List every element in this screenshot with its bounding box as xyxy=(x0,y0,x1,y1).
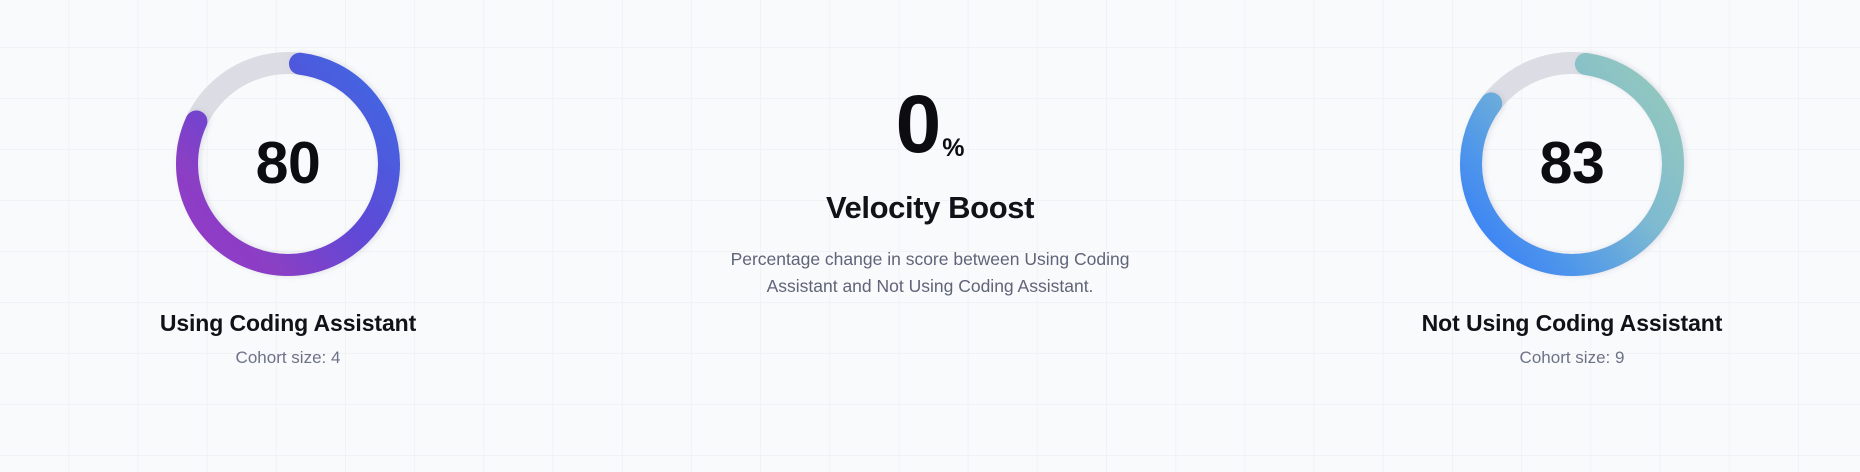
left-gauge-cohort-size: Cohort size: 4 xyxy=(160,348,416,368)
summary-value-row: 0 % xyxy=(896,86,965,164)
left-gauge-value: 80 xyxy=(172,48,404,280)
summary-heading: Velocity Boost xyxy=(826,190,1034,226)
right-gauge: 83 xyxy=(1456,48,1688,280)
right-gauge-cohort-size: Cohort size: 9 xyxy=(1422,348,1723,368)
velocity-boost-summary: 0 % Velocity Boost Percentage change in … xyxy=(610,0,1250,300)
summary-description: Percentage change in score between Using… xyxy=(695,246,1165,300)
velocity-boost-comparison-panel: 80 Using Coding Assistant Cohort size: 4… xyxy=(0,0,1860,472)
gauge-column-using-coding-assistant: 80 Using Coding Assistant Cohort size: 4 xyxy=(8,0,568,368)
right-gauge-caption: Not Using Coding Assistant Cohort size: … xyxy=(1422,310,1723,368)
left-gauge-caption: Using Coding Assistant Cohort size: 4 xyxy=(160,310,416,368)
summary-unit: % xyxy=(942,136,964,161)
right-gauge-title: Not Using Coding Assistant xyxy=(1422,310,1723,337)
right-gauge-value: 83 xyxy=(1456,48,1688,280)
summary-value: 0 xyxy=(896,86,940,164)
gauge-column-not-using-coding-assistant: 83 Not Using Coding Assistant Cohort siz… xyxy=(1292,0,1852,368)
left-gauge-title: Using Coding Assistant xyxy=(160,310,416,337)
left-gauge: 80 xyxy=(172,48,404,280)
